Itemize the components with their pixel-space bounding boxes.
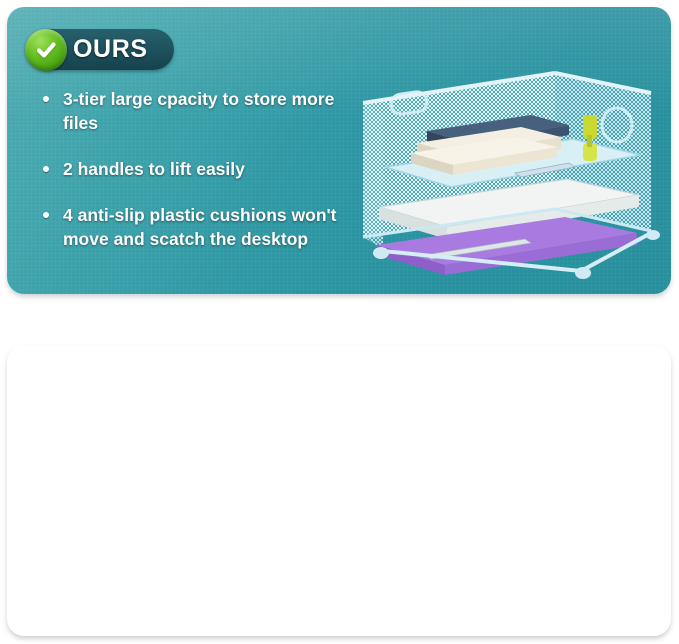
- check-circle-icon: [25, 29, 67, 71]
- list-item: 2 handles to lift easily: [41, 157, 341, 181]
- panel-ours: OURS 3-tier large cpacity to store more …: [7, 7, 671, 294]
- badge-ours: OURS: [29, 29, 174, 70]
- panel-texture-others: [7, 345, 671, 636]
- product-image-ours: [355, 59, 671, 283]
- list-item: 4 anti-slip plastic cushions won't move …: [41, 203, 341, 251]
- list-item: 3-tier large cpacity to store more files: [41, 87, 341, 135]
- badge-label-ours: OURS: [73, 29, 148, 70]
- panel-others: OTHERS Only 2 tiers No handles,hard to u…: [7, 345, 671, 636]
- comparison-infographic: OURS 3-tier large cpacity to store more …: [0, 0, 679, 644]
- panel-sheen-others: [7, 345, 671, 461]
- bullet-list-ours: 3-tier large cpacity to store more files…: [41, 87, 341, 273]
